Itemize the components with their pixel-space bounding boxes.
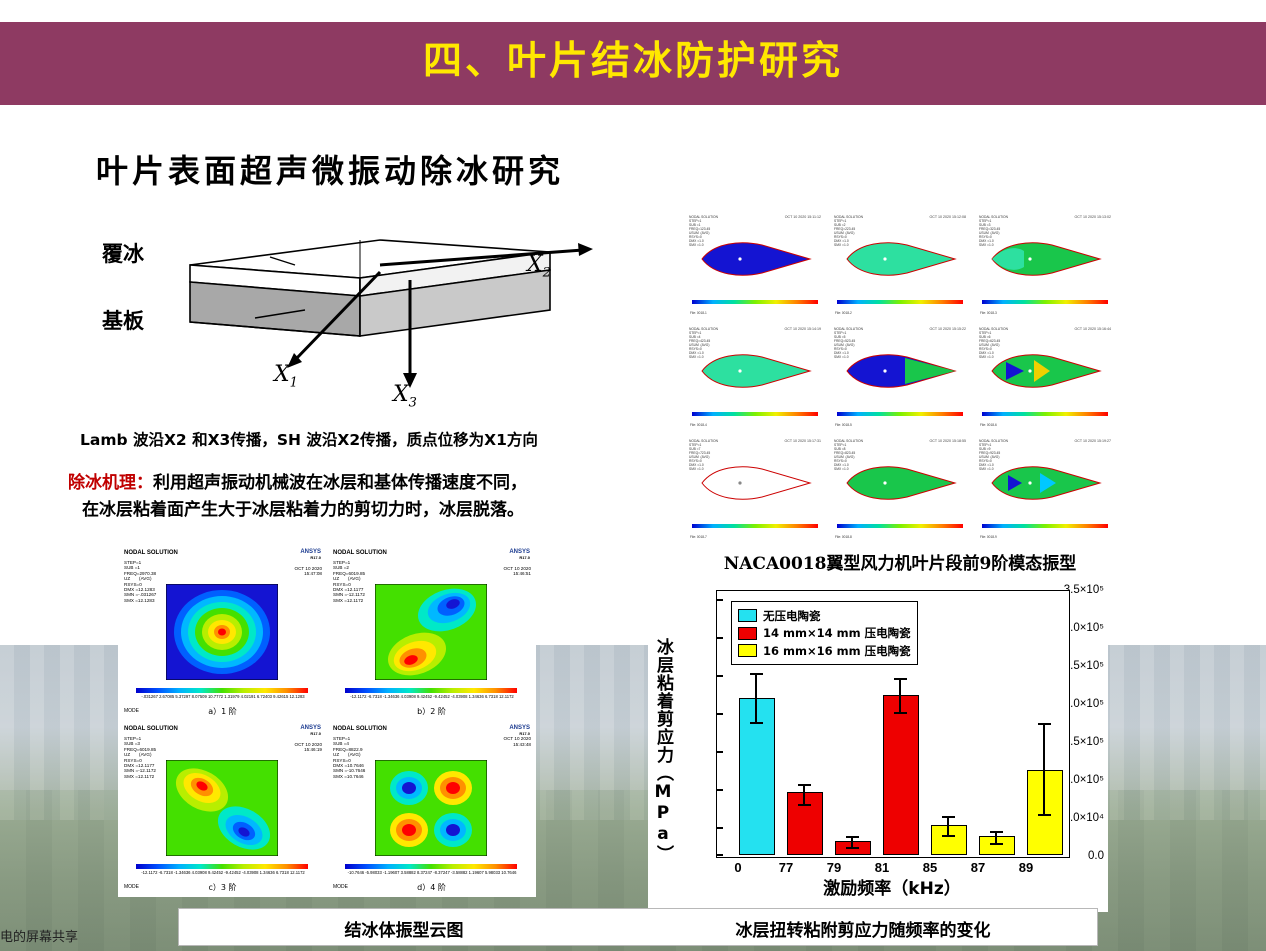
x-tick: 79: [817, 860, 851, 875]
bottom-caption-bar: 结冰体振型云图 冰层扭转粘附剪应力随频率的变化: [178, 908, 1098, 946]
legend-item: 14 mm×14 mm 压电陶瓷: [738, 625, 911, 641]
x-tick: 85: [913, 860, 947, 875]
contour-image: [166, 584, 278, 680]
bar-89: [1027, 770, 1063, 855]
mode-cell: NODAL SOLUTION STEP=1 SUB =4 FREQ=423.45…: [686, 324, 825, 429]
contour-panel: NODAL SOLUTION ANSYSR17.0 OCT 10 2020 15…: [118, 546, 327, 721]
mode-cell: NODAL SOLUTION STEP=1 SUB =5 FREQ=523.45…: [831, 324, 970, 429]
deicing-mechanism-note: 除冰机理：利用超声振动机械波在冰层和基体传播速度不同， 在冰层粘着面产生大于冰层…: [68, 470, 668, 524]
label-plate: 基板: [102, 305, 144, 335]
page-title: 四、叶片结冰防护研究: [0, 30, 1266, 86]
contour-image: [375, 760, 487, 856]
screen-share-note: 电的屏幕共享: [0, 926, 78, 945]
bar-85: [931, 825, 967, 855]
x-tick: 89: [1009, 860, 1043, 875]
axis-x2-label: X2: [527, 252, 551, 280]
x-tick: 77: [769, 860, 803, 875]
legend-swatch-icon: [738, 609, 757, 622]
mode-cell: NODAL SOLUTION STEP=1 SUB =1 FREQ=123.45…: [686, 212, 825, 317]
legend-item: 16 mm×16 mm 压电陶瓷: [738, 643, 911, 659]
shear-stress-chart: 冰层粘着剪应力（MPa） 0.0 5.0×10⁴ 1.0×10⁵ 1.5×10⁵…: [648, 582, 1108, 912]
contour-image: [166, 760, 278, 856]
bar-77: [787, 792, 823, 855]
x-tick: 0: [721, 860, 755, 875]
axis-x3-label: X3: [393, 382, 417, 410]
contour-image: [375, 584, 487, 680]
mode-cell: NODAL SOLUTION STEP=1 SUB =3 FREQ=323.45…: [976, 212, 1115, 317]
mode-cell: NODAL SOLUTION STEP=1 SUB =7 FREQ=723.45…: [686, 436, 825, 541]
contour-caption: 结冰体振型云图: [179, 916, 629, 941]
bar-0: [739, 698, 775, 855]
contour-panel: NODAL SOLUTION ANSYSR17.0 OCT 10 2020 15…: [327, 546, 536, 721]
mode-cell: NODAL SOLUTION STEP=1 SUB =8 FREQ=823.45…: [831, 436, 970, 541]
chart-caption: 冰层扭转粘附剪应力随频率的变化: [629, 916, 1097, 941]
section-title: 叶片表面超声微振动除冰研究: [96, 146, 564, 192]
ansys-grid-caption: NACA0018翼型风力机叶片段前9阶模态振型: [700, 549, 1100, 574]
contour-panel: NODAL SOLUTION ANSYSR17.0 OCT 10 2020 15…: [118, 722, 327, 897]
bar-81: [883, 695, 919, 855]
mechanism-label: 除冰机理：: [68, 473, 153, 493]
legend-label: 14 mm×14 mm 压电陶瓷: [763, 625, 911, 641]
mechanism-line2: 在冰层粘着面产生大于冰层粘着力的剪切力时，冰层脱落。: [82, 497, 524, 524]
mode-cell: NODAL SOLUTION STEP=1 SUB =2 FREQ=223.45…: [831, 212, 970, 317]
contour-panel: NODAL SOLUTION ANSYSR17.0 OCT 10 2020 15…: [327, 722, 536, 897]
mechanism-line1: 利用超声振动机械波在冰层和基体传播速度不同，: [153, 473, 527, 493]
legend-swatch-icon: [738, 627, 757, 640]
lamb-wave-note: Lamb 波沿X2 和X3传播，SH 波沿X2传播，质点位移为X1方向: [80, 428, 680, 450]
legend-item: 无压电陶瓷: [738, 608, 911, 624]
x-tick: 81: [865, 860, 899, 875]
chart-legend: 无压电陶瓷 14 mm×14 mm 压电陶瓷 16 mm×16 mm 压电陶瓷: [731, 601, 918, 665]
chart-y-axis-label: 冰层粘着剪应力（MPa）: [650, 638, 676, 863]
label-ice: 覆冰: [102, 238, 144, 268]
contour-plot-grid: NODAL SOLUTION ANSYSR17.0 OCT 10 2020 15…: [118, 546, 536, 896]
axis-x1-label: X1: [274, 362, 298, 390]
legend-label: 无压电陶瓷: [763, 608, 821, 624]
mode-cell: NODAL SOLUTION STEP=1 SUB =9 FREQ=923.45…: [976, 436, 1115, 541]
mode-cell: NODAL SOLUTION STEP=1 SUB =6 FREQ=623.45…: [976, 324, 1115, 429]
x-tick: 87: [961, 860, 995, 875]
chart-plot-area: 无压电陶瓷 14 mm×14 mm 压电陶瓷 16 mm×16 mm 压电陶瓷: [716, 590, 1070, 858]
bar-87: [979, 836, 1015, 855]
plate-schematic: 覆冰 基板 X2 X1 X3: [80, 210, 640, 430]
legend-swatch-icon: [738, 644, 757, 657]
ansys-mode-grid: NODAL SOLUTION STEP=1 SUB =1 FREQ=123.45…: [686, 212, 1115, 542]
chart-x-axis-label: 激励频率（kHz）: [716, 874, 1068, 899]
legend-label: 16 mm×16 mm 压电陶瓷: [763, 643, 911, 659]
